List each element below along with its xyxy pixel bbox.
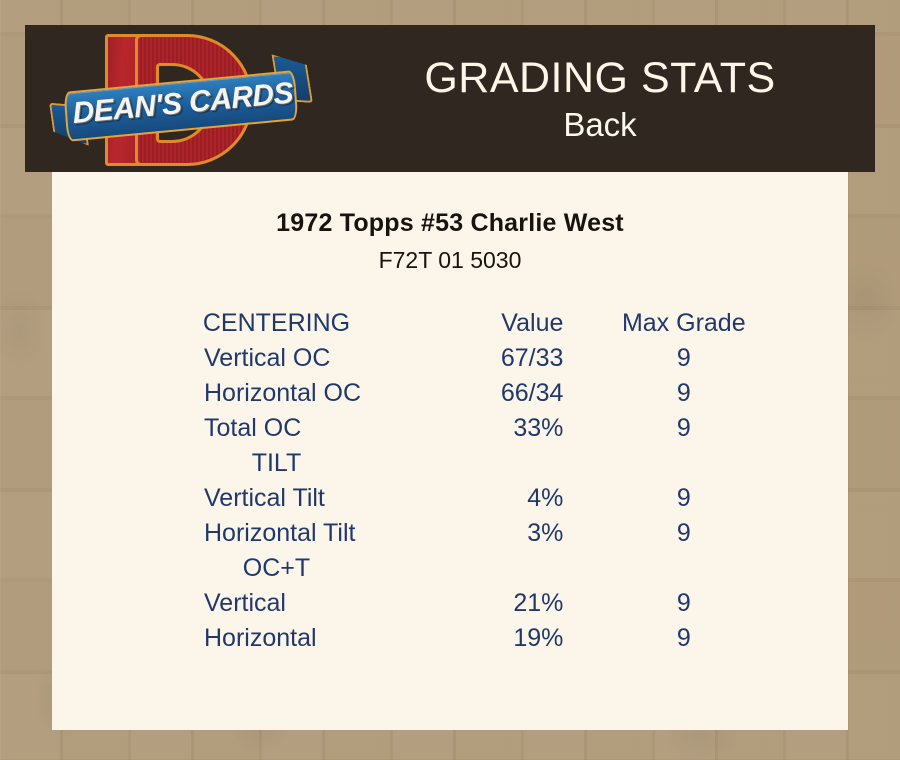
page-subtitle: Back (563, 105, 636, 145)
row-label-0-0: Vertical OC (52, 341, 401, 376)
logo-ribbon-banner: DEAN'S CARDS (49, 69, 311, 146)
table-row: Vertical Tilt4%9 (52, 481, 848, 516)
row-label-0-1: Horizontal OC (52, 376, 401, 411)
row-label-2-0: Vertical (52, 586, 401, 621)
group-header-grade-spacer (588, 551, 779, 586)
row-value-2-1: 19% (401, 621, 588, 656)
row-value-0-2: 33% (401, 411, 588, 446)
grading-stats-body: CENTERINGValueMax GradeVertical OC67/339… (52, 306, 848, 656)
table-row: Total OC33%9 (52, 411, 848, 446)
row-value-1-0: 4% (401, 481, 588, 516)
row-max-grade-1-0: 9 (588, 481, 779, 516)
row-max-grade-0-0: 9 (588, 341, 779, 376)
group-header-value-spacer (401, 551, 588, 586)
column-header-value: Value (401, 306, 588, 341)
row-right-padding (779, 376, 848, 411)
table-row: Vertical21%9 (52, 586, 848, 621)
row-right-padding (779, 516, 848, 551)
group-label-centering: CENTERING (52, 306, 401, 341)
row-right-padding (779, 481, 848, 516)
row-value-0-1: 66/34 (401, 376, 588, 411)
table-row: Horizontal Tilt3%9 (52, 516, 848, 551)
table-row: Horizontal OC66/349 (52, 376, 848, 411)
column-header-max-grade: Max Grade (588, 306, 779, 341)
row-label-1-1: Horizontal Tilt (52, 516, 401, 551)
row-label-2-1: Horizontal (52, 621, 401, 656)
row-max-grade-0-1: 9 (588, 376, 779, 411)
content-panel: 1972 Topps #53 Charlie West F72T 01 5030… (52, 172, 848, 730)
page-title: GRADING STATS (424, 53, 775, 103)
row-max-grade-2-0: 9 (588, 586, 779, 621)
row-right-padding (779, 586, 848, 621)
table-right-padding (779, 306, 848, 341)
table-group-header-row: TILT (52, 446, 848, 481)
group-label-tilt: TILT (52, 446, 401, 481)
group-header-grade-spacer (588, 446, 779, 481)
header-bar: DEAN'S CARDS GRADING STATS Back (25, 25, 875, 172)
row-label-1-0: Vertical Tilt (52, 481, 401, 516)
header-title-block: GRADING STATS Back (325, 25, 875, 172)
table-group-header-row: CENTERINGValueMax Grade (52, 306, 848, 341)
row-right-padding (779, 621, 848, 656)
card-serial-number: F72T 01 5030 (52, 247, 848, 274)
row-value-1-1: 3% (401, 516, 588, 551)
table-row: Horizontal19%9 (52, 621, 848, 656)
table-group-header-row: OC+T (52, 551, 848, 586)
group-label-oc+t: OC+T (52, 551, 401, 586)
table-right-padding (779, 551, 848, 586)
table-right-padding (779, 446, 848, 481)
row-right-padding (779, 411, 848, 446)
row-max-grade-1-1: 9 (588, 516, 779, 551)
row-max-grade-2-1: 9 (588, 621, 779, 656)
group-header-value-spacer (401, 446, 588, 481)
row-max-grade-0-2: 9 (588, 411, 779, 446)
deans-cards-logo[interactable]: DEAN'S CARDS (45, 28, 315, 170)
row-value-2-0: 21% (401, 586, 588, 621)
row-value-0-0: 67/33 (401, 341, 588, 376)
card-title: 1972 Topps #53 Charlie West (52, 209, 848, 238)
row-label-0-2: Total OC (52, 411, 401, 446)
grading-stats-table: CENTERINGValueMax GradeVertical OC67/339… (52, 306, 848, 656)
table-row: Vertical OC67/339 (52, 341, 848, 376)
row-right-padding (779, 341, 848, 376)
